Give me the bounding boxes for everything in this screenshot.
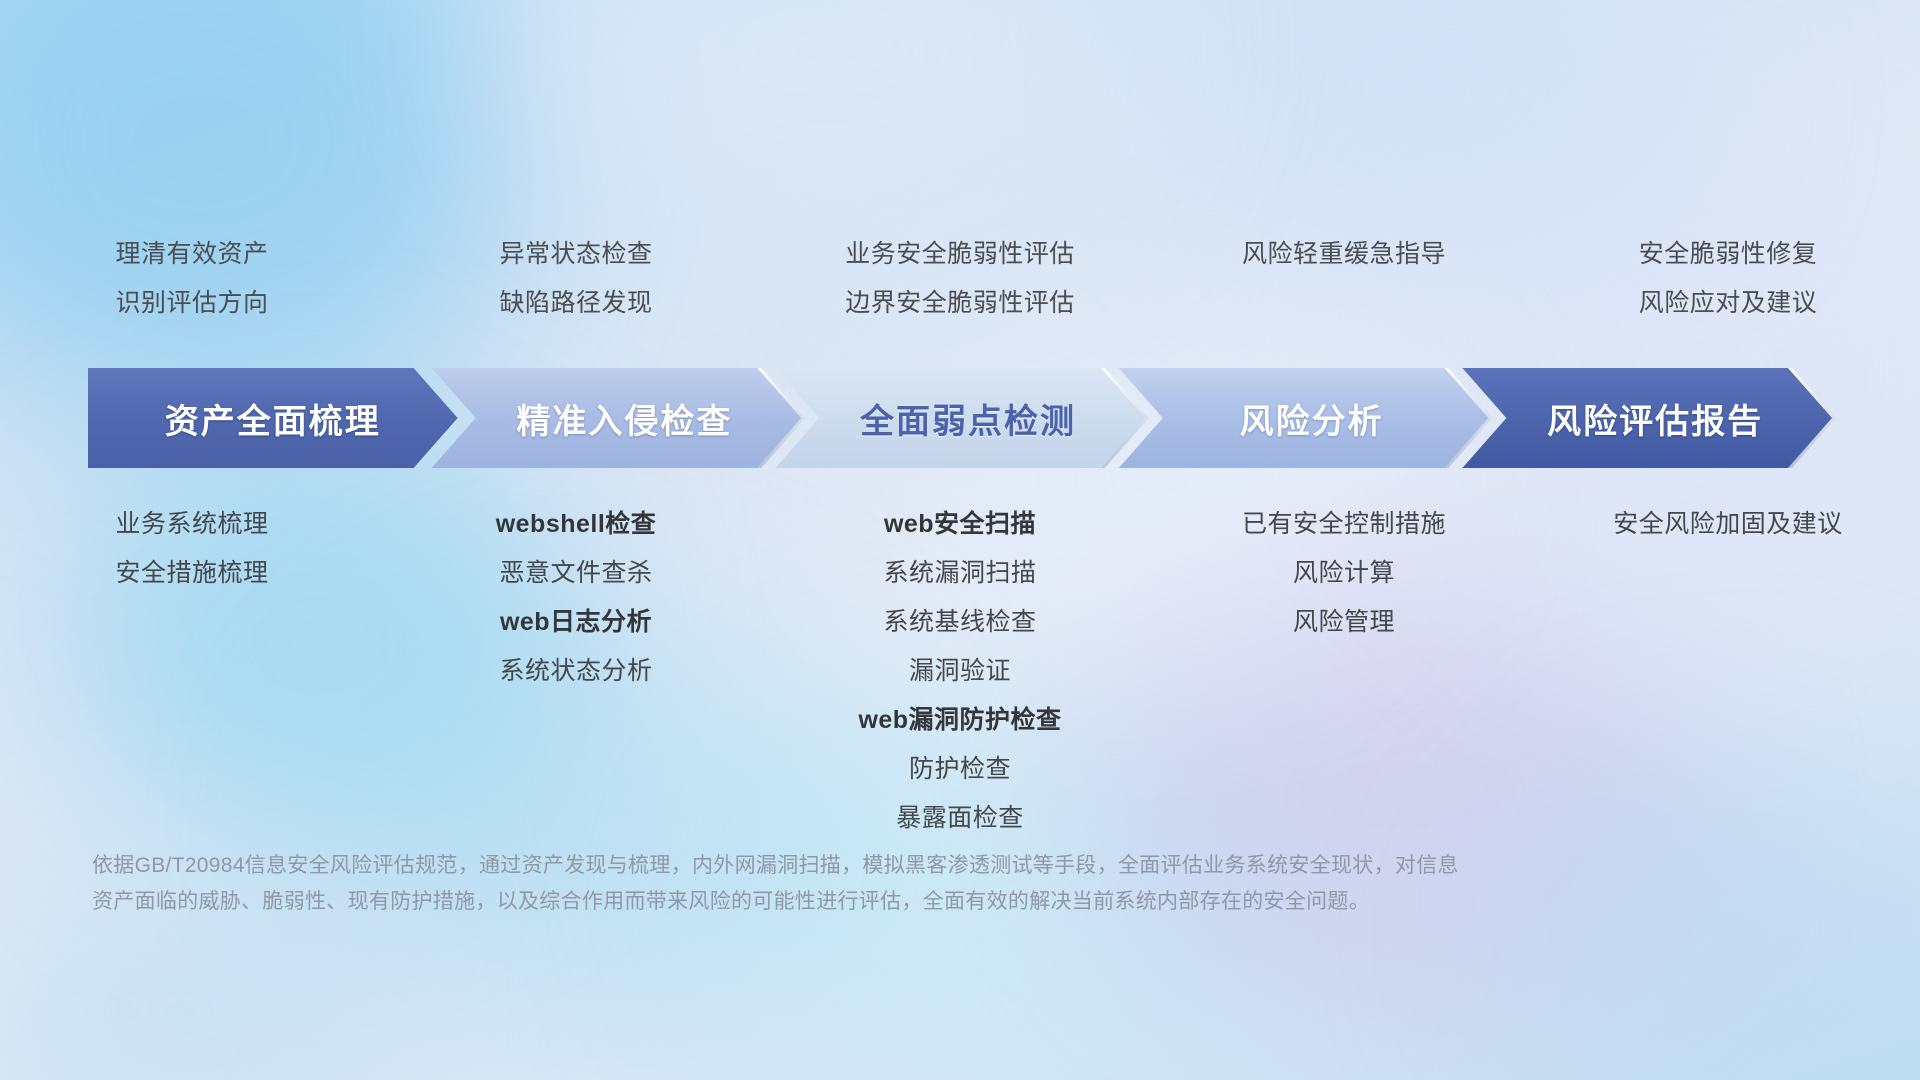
list-item: 业务系统梳理 [115,500,268,549]
list-item: 已有安全控制措施 [1242,500,1446,549]
list-item: 边界安全脆弱性评估 [845,279,1075,328]
stage-5-title: 风险评估报告 [1531,394,1763,443]
list-item: web日志分析 [500,598,652,647]
list-item: 安全脆弱性修复 [1639,230,1818,279]
list-item: 业务安全脆弱性评估 [845,230,1075,279]
list-item: 暴露面检查 [896,794,1024,843]
stage-5-outputs: 安全风险加固及建议 [1536,500,1920,850]
stage-2-outputs: webshell检查恶意文件查杀web日志分析系统状态分析 [384,500,768,850]
stage-chevron-1[interactable]: 资产全面梳理 [88,368,458,468]
list-item: 风险计算 [1293,549,1395,598]
list-item: 防护检查 [909,745,1011,794]
process-chevron-banner: 资产全面梳理 精准入侵检查 全面弱点检测 风险分析 风险评估报告 [88,368,1832,468]
list-item: 风险管理 [1293,598,1395,647]
list-item: web安全扫描 [884,500,1036,549]
stage-inputs-row: 理清有效资产识别评估方向 异常状态检查缺陷路径发现 业务安全脆弱性评估边界安全脆… [0,230,1920,340]
stage-4-title: 风险分析 [1224,394,1384,443]
stage-1-outputs: 业务系统梳理安全措施梳理 [0,500,384,850]
stage-4-inputs: 风险轻重缓急指导 [1152,230,1536,340]
list-item: 风险轻重缓急指导 [1242,230,1446,279]
list-item: 漏洞验证 [909,647,1011,696]
stage-3-outputs: web安全扫描系统漏洞扫描系统基线检查漏洞验证web漏洞防护检查防护检查暴露面检… [768,500,1152,850]
footer-description: 依据GB/T20984信息安全风险评估规范，通过资产发现与梳理，内外网漏洞扫描，… [92,848,1612,920]
stage-outputs-row: 业务系统梳理安全措施梳理 webshell检查恶意文件查杀web日志分析系统状态… [0,500,1920,850]
stage-chevron-2[interactable]: 精准入侵检查 [432,368,802,468]
list-item: 理清有效资产 [115,230,268,279]
stage-3-title: 全面弱点检测 [844,394,1076,443]
stage-1-inputs: 理清有效资产识别评估方向 [0,230,384,340]
footer-line-1: 依据GB/T20984信息安全风险评估规范，通过资产发现与梳理，内外网漏洞扫描，… [92,848,1612,884]
list-item: webshell检查 [496,500,657,549]
list-item: 安全风险加固及建议 [1613,500,1843,549]
stage-1-title: 资产全面梳理 [165,394,381,443]
list-item: 系统状态分析 [499,647,652,696]
list-item: web漏洞防护检查 [858,696,1061,745]
stage-2-title: 精准入侵检查 [500,394,732,443]
stage-4-outputs: 已有安全控制措施风险计算风险管理 [1152,500,1536,850]
list-item: 安全措施梳理 [115,549,268,598]
list-item: 系统基线检查 [883,598,1036,647]
stage-chevron-3[interactable]: 全面弱点检测 [775,368,1145,468]
stage-chevron-4[interactable]: 风险分析 [1119,368,1489,468]
stage-2-inputs: 异常状态检查缺陷路径发现 [384,230,768,340]
list-item: 系统漏洞扫描 [883,549,1036,598]
stage-chevron-5[interactable]: 风险评估报告 [1462,368,1832,468]
footer-line-2: 资产面临的威胁、脆弱性、现有防护措施，以及综合作用而带来风险的可能性进行评估，全… [92,884,1612,920]
list-item: 缺陷路径发现 [499,279,652,328]
stage-3-inputs: 业务安全脆弱性评估边界安全脆弱性评估 [768,230,1152,340]
list-item: 异常状态检查 [499,230,652,279]
list-item: 识别评估方向 [115,279,268,328]
list-item: 风险应对及建议 [1639,279,1818,328]
list-item: 恶意文件查杀 [499,549,652,598]
stage-5-inputs: 安全脆弱性修复风险应对及建议 [1536,230,1920,340]
